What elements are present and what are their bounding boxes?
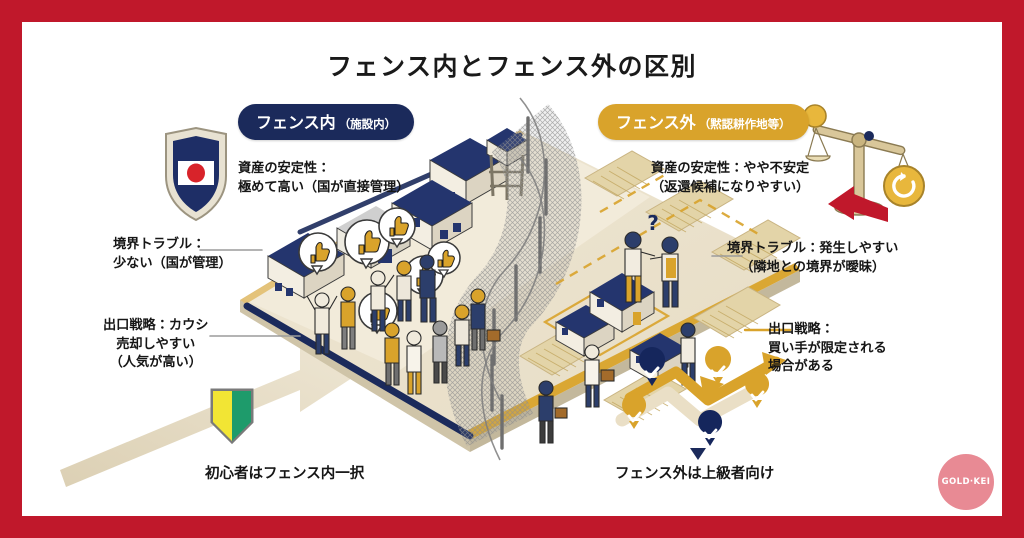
note-inside-boundary-line2: 少ない（国が管理） <box>113 255 232 274</box>
beginner-mark <box>212 390 252 442</box>
note-outside-exit-line1: 出口戦略： <box>768 321 887 340</box>
section-label-inside-main: フェンス内 <box>256 109 336 133</box>
page-title: フェンス内とフェンス外の区別 <box>0 47 1024 83</box>
section-label-inside: フェンス内 （施設内） <box>238 104 414 140</box>
section-label-outside-main: フェンス外 <box>616 109 696 133</box>
note-outside-boundary: 境界トラブル：発生しやすい （隣地との境界が曖昧） <box>727 240 898 277</box>
winding-path <box>622 346 786 460</box>
note-inside-exit-line3: （人気が高い） <box>103 354 209 373</box>
note-inside-exit-line2: 売却しやすい <box>103 336 209 355</box>
note-inside-boundary: 境界トラブル： 少ない（国が管理） <box>113 236 232 273</box>
infographic-root: ? <box>0 0 1024 538</box>
note-outside-exit: 出口戦略： 買い手が限定される 場合がある <box>768 321 887 377</box>
brand-logo: GOLD·KEI <box>938 454 994 510</box>
check-pin <box>745 372 769 408</box>
section-label-outside: フェンス外 （黙認耕作地等） <box>598 104 809 140</box>
caption-inside: 初心者はフェンス内一択 <box>205 462 364 483</box>
japan-flag-shield <box>166 128 226 220</box>
note-outside-exit-line3: 場合がある <box>768 358 887 377</box>
unbalanced-scale <box>804 105 924 222</box>
caption-outside: フェンス外は上級者向け <box>615 462 774 483</box>
note-outside-stability: 資産の安定性：やや不安定 （返還候補になりやすい） <box>651 160 809 197</box>
note-outside-exit-line2: 買い手が限定される <box>768 340 887 359</box>
note-inside-exit: 出口戦略：カウシ 売却しやすい （人気が高い） <box>103 317 209 373</box>
note-outside-boundary-line2: （隣地との境界が曖昧） <box>727 259 898 278</box>
note-outside-stability-line1: 資産の安定性：やや不安定 <box>651 160 809 179</box>
note-outside-stability-line2: （返還候補になりやすい） <box>651 179 809 198</box>
note-inside-stability-line1: 資産の安定性： <box>238 160 409 179</box>
dispute-question-mark: ? <box>647 211 659 235</box>
section-label-outside-sub: （黙認耕作地等） <box>699 116 791 132</box>
note-inside-stability: 資産の安定性： 極めて高い（国が直接管理） <box>238 160 409 197</box>
note-inside-stability-line2: 極めて高い（国が直接管理） <box>238 179 409 198</box>
note-outside-boundary-line1: 境界トラブル：発生しやすい <box>727 240 898 259</box>
section-label-inside-sub: （施設内） <box>339 116 397 132</box>
check-pin <box>698 410 722 446</box>
note-inside-boundary-line1: 境界トラブル： <box>113 236 232 255</box>
note-inside-exit-line1: 出口戦略：カウシ <box>103 317 209 336</box>
